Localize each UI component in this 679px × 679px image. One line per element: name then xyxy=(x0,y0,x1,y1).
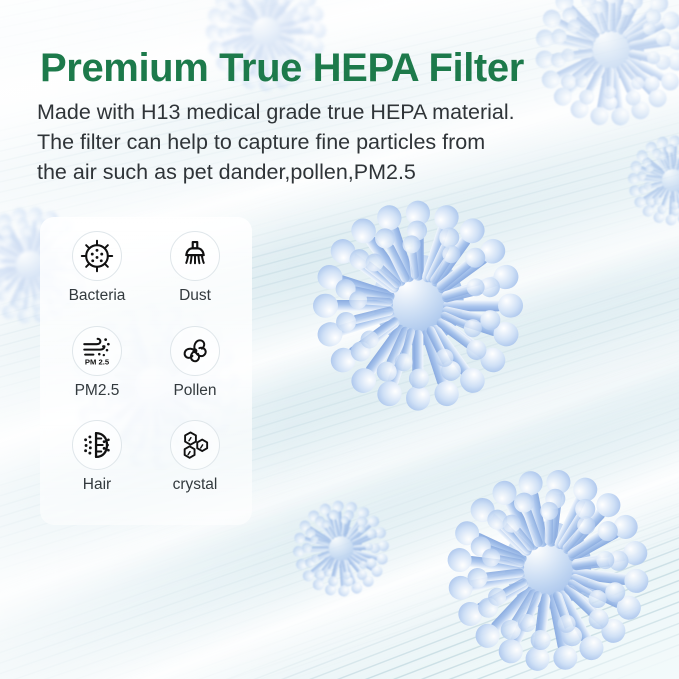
virus-particle xyxy=(310,192,526,408)
feature-label: Hair xyxy=(83,477,111,493)
bacteria-icon xyxy=(72,231,122,281)
feature-label: crystal xyxy=(173,477,218,493)
feature-label: PM2.5 xyxy=(75,383,120,399)
dust-brush-icon xyxy=(170,231,220,281)
virus-particle xyxy=(627,132,679,224)
feature-item-pm25: PM 2.5 PM2.5 xyxy=(48,326,146,421)
crystal-hexagons-icon xyxy=(170,420,220,470)
feature-label: Bacteria xyxy=(69,288,126,304)
description-line-2: The filter can help to capture fine part… xyxy=(37,127,557,157)
pm25-airflow-icon: PM 2.5 xyxy=(72,326,122,376)
pm25-icon-text: PM 2.5 xyxy=(85,357,110,366)
feature-item-crystal: crystal xyxy=(146,420,244,515)
feature-label: Dust xyxy=(179,288,211,304)
hair-filter-icon xyxy=(72,420,122,470)
description-text: Made with H13 medical grade true HEPA ma… xyxy=(37,97,557,187)
feature-label: Pollen xyxy=(173,383,216,399)
page-title: Premium True HEPA Filter xyxy=(40,46,524,91)
description-line-1: Made with H13 medical grade true HEPA ma… xyxy=(37,97,557,127)
virus-spike xyxy=(341,546,355,550)
feature-item-hair: Hair xyxy=(48,420,146,515)
product-infographic: Premium True HEPA Filter Made with H13 m… xyxy=(0,0,679,679)
description-line-3: the air such as pet dander,pollen,PM2.5 xyxy=(37,157,557,187)
feature-panel: Bacteria xyxy=(40,217,252,525)
pollen-icon xyxy=(170,326,220,376)
feature-item-pollen: Pollen xyxy=(146,326,244,421)
feature-item-dust: Dust xyxy=(146,231,244,326)
virus-particle xyxy=(291,496,391,596)
feature-item-bacteria: Bacteria xyxy=(48,231,146,326)
virus-particle xyxy=(444,461,652,669)
